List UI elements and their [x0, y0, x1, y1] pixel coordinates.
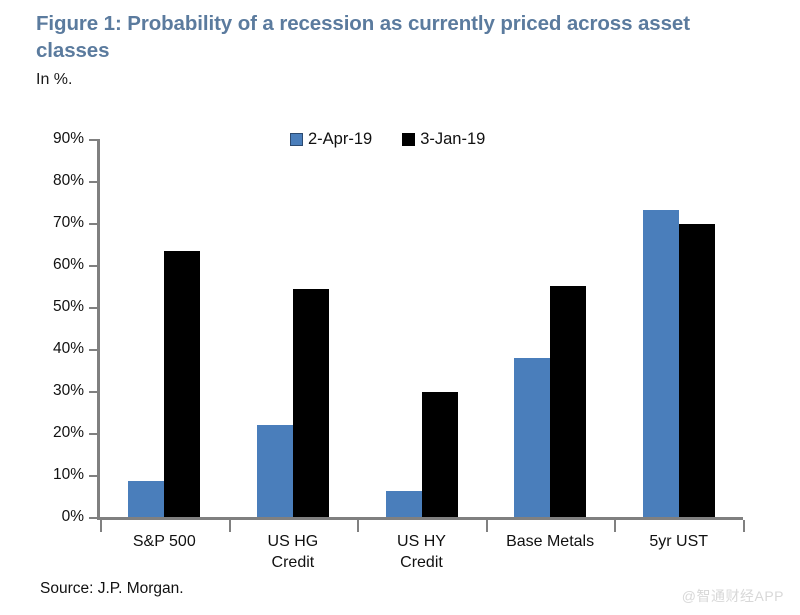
- y-axis-tick-mark: [89, 307, 97, 309]
- y-axis-tick-labels: 0%10%20%30%40%50%60%70%80%90%: [28, 118, 84, 558]
- figure-subtitle: In %.: [36, 71, 766, 89]
- y-axis-tick-mark: [89, 433, 97, 435]
- x-axis-category-label: Base Metals: [486, 532, 615, 553]
- y-axis-tick-mark: [89, 223, 97, 225]
- bar-prior[interactable]: [679, 224, 715, 517]
- x-axis-tick-mark: [357, 520, 359, 532]
- y-axis-tick-label: 70%: [32, 214, 84, 232]
- page-title: Figure 1: Probability of a recession as …: [36, 10, 766, 65]
- x-axis-end-tick-mark: [100, 520, 102, 532]
- bar-prior[interactable]: [164, 251, 200, 517]
- y-axis-tick-mark: [89, 349, 97, 351]
- x-axis-category-label: 5yr UST: [614, 532, 743, 553]
- y-axis-tick-label: 50%: [32, 298, 84, 316]
- y-axis-tick-label: 90%: [32, 130, 84, 148]
- bar-group: [514, 139, 586, 517]
- y-axis-tick-label: 60%: [32, 256, 84, 274]
- bar-group: [643, 139, 715, 517]
- x-axis-category-line: Base Metals: [486, 532, 615, 553]
- bar-group: [128, 139, 200, 517]
- x-axis-tick-mark: [486, 520, 488, 532]
- y-axis-tick-mark: [89, 139, 97, 141]
- bar-group: [386, 139, 458, 517]
- bar-current[interactable]: [128, 481, 164, 517]
- bar-prior[interactable]: [422, 392, 458, 517]
- y-axis-tick-mark: [89, 181, 97, 183]
- x-axis-end-tick-mark: [743, 520, 745, 532]
- y-axis-tick-mark: [89, 475, 97, 477]
- y-axis-tick-label: 10%: [32, 466, 84, 484]
- bar-current[interactable]: [514, 358, 550, 517]
- figure-container: Figure 1: Probability of a recession as …: [0, 0, 800, 615]
- y-axis-tick-mark: [89, 391, 97, 393]
- x-axis-tick-mark: [614, 520, 616, 532]
- x-axis-category-labels: S&P 500US HGCreditUS HYCreditBase Metals…: [100, 532, 743, 592]
- y-axis-tick-label: 20%: [32, 424, 84, 442]
- y-axis-tick-label: 80%: [32, 172, 84, 190]
- x-axis-category-line: 5yr UST: [614, 532, 743, 553]
- x-axis-category-label: S&P 500: [100, 532, 229, 553]
- y-axis-tick-label: 0%: [32, 508, 84, 526]
- bar-group: [257, 139, 329, 517]
- x-axis-category-line: Credit: [357, 553, 486, 574]
- bar-current[interactable]: [643, 210, 679, 517]
- x-axis-tick-mark: [229, 520, 231, 532]
- x-axis-category-line: US HY: [357, 532, 486, 553]
- bar-current[interactable]: [257, 425, 293, 517]
- title-block: Figure 1: Probability of a recession as …: [36, 10, 766, 89]
- chart-plot-area: 2-Apr-193-Jan-19 0%10%20%30%40%50%60%70%…: [0, 118, 800, 558]
- x-axis-category-line: S&P 500: [100, 532, 229, 553]
- bar-current[interactable]: [386, 491, 422, 517]
- bars-layer: [100, 139, 743, 517]
- bar-prior[interactable]: [293, 289, 329, 517]
- watermark: @智通财经APP: [682, 586, 784, 606]
- source-note: Source: J.P. Morgan.: [40, 580, 184, 598]
- x-axis-category-line: US HG: [229, 532, 358, 553]
- y-axis-tick-label: 30%: [32, 382, 84, 400]
- x-axis-category-label: US HGCredit: [229, 532, 358, 574]
- x-axis-line: [97, 517, 743, 520]
- y-axis-tick-mark: [89, 517, 97, 519]
- bar-prior[interactable]: [550, 286, 586, 517]
- x-axis-category-label: US HYCredit: [357, 532, 486, 574]
- y-axis-tick-mark: [89, 265, 97, 267]
- x-axis-category-line: Credit: [229, 553, 358, 574]
- y-axis-tick-label: 40%: [32, 340, 84, 358]
